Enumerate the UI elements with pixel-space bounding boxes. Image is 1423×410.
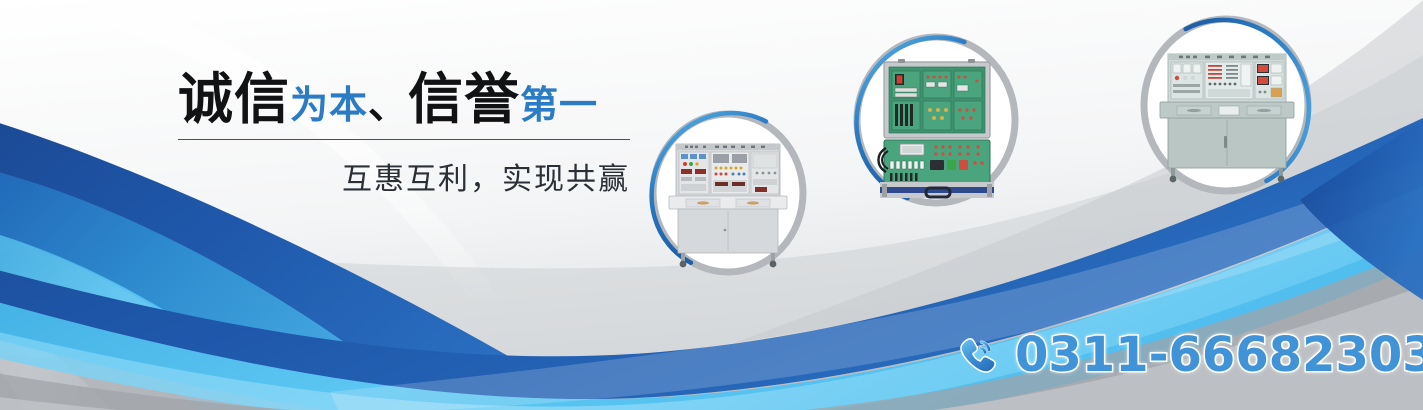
headline-punctuation: 、 (368, 82, 408, 128)
lab-bench-illustration (1160, 54, 1294, 182)
phone-number[interactable]: 0311-66682303 (1015, 327, 1423, 383)
contact-block[interactable]: 0311-66682303 (955, 327, 1423, 383)
page-title: 诚信为本、信誉第一 (178, 72, 630, 127)
headline-segment-2: 为本 (290, 83, 368, 127)
headline-segment-3: 信誉 (408, 67, 520, 131)
headline-divider (178, 139, 630, 140)
workbench-illustration (669, 144, 787, 267)
headline-segment-1: 诚信 (178, 67, 290, 131)
product-circle-electrical-training-workbench[interactable] (645, 108, 811, 278)
product-circle-electrical-lab-bench[interactable] (1135, 12, 1317, 198)
promotional-banner: 诚信为本、信誉第一 互惠互利，实现共赢 (0, 0, 1423, 410)
product-circle-portable-electronics-training-case[interactable] (848, 30, 1024, 210)
phone-call-icon[interactable] (955, 332, 1001, 378)
headline-segment-4: 第一 (520, 83, 598, 127)
training-case-illustration (879, 59, 995, 198)
subtitle: 互惠互利，实现共赢 (178, 154, 630, 198)
headline-block: 诚信为本、信誉第一 互惠互利，实现共赢 (178, 72, 630, 198)
